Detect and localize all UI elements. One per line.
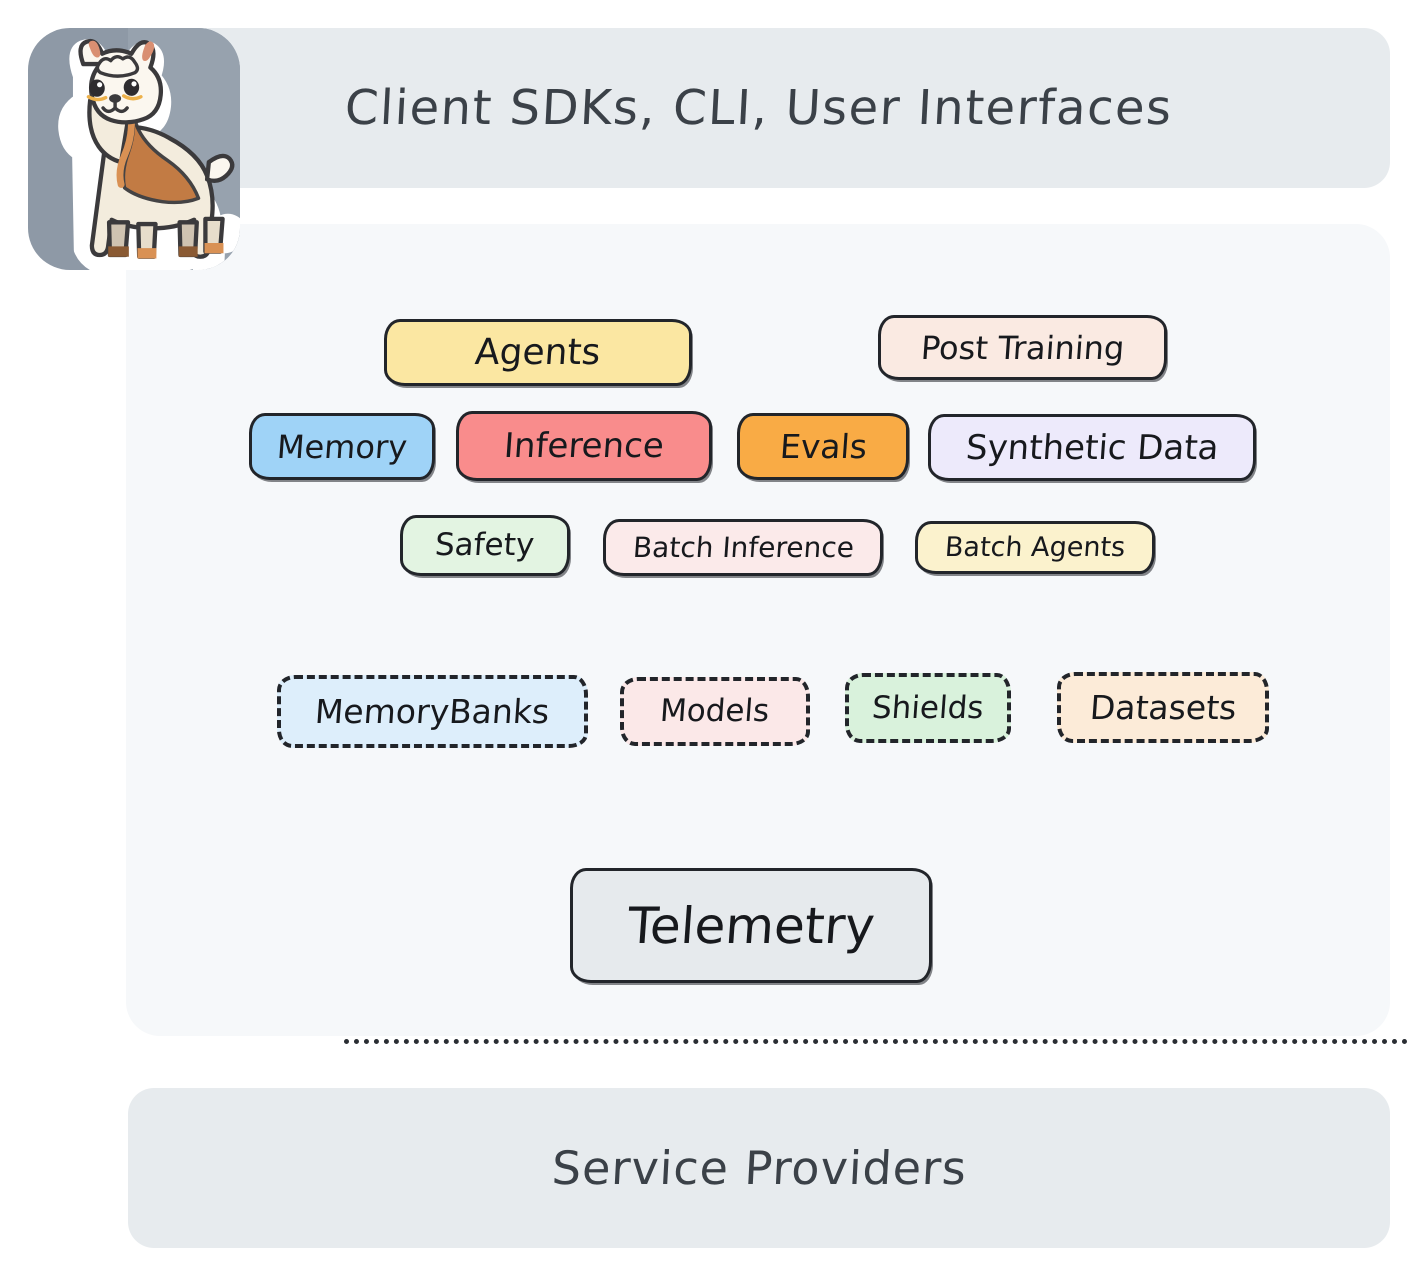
llama-stack-api-panel: AgentsPost TrainingMemoryInferenceEvalsS… bbox=[126, 224, 1390, 1036]
api-box-synthetic-data[interactable]: Synthetic Data bbox=[928, 414, 1256, 481]
service-providers-label: Service Providers bbox=[550, 1141, 968, 1195]
service-providers-banner: Service Providers bbox=[128, 1088, 1390, 1248]
resource-box-label: Datasets bbox=[1089, 691, 1238, 724]
api-box-label: Inference bbox=[503, 429, 665, 463]
api-box-label: Batch Agents bbox=[944, 534, 1126, 561]
dotted-divider bbox=[344, 1039, 1410, 1044]
api-box-batch-inference[interactable]: Batch Inference bbox=[603, 519, 883, 576]
client-layer-label: Client SDKs, CLI, User Interfaces bbox=[344, 80, 1175, 136]
resource-box-shields[interactable]: Shields bbox=[845, 673, 1011, 743]
resource-box-datasets[interactable]: Datasets bbox=[1057, 672, 1269, 743]
api-box-inference[interactable]: Inference bbox=[456, 411, 712, 481]
diagram-canvas: Client SDKs, CLI, User Interfaces bbox=[0, 0, 1410, 1268]
resource-box-models[interactable]: Models bbox=[620, 677, 810, 746]
api-box-label: Batch Inference bbox=[632, 534, 855, 562]
api-box-safety[interactable]: Safety bbox=[400, 515, 570, 576]
api-box-batch-agents[interactable]: Batch Agents bbox=[915, 521, 1155, 574]
resource-box-label: Shields bbox=[871, 693, 985, 724]
api-box-post-training[interactable]: Post Training bbox=[878, 315, 1167, 380]
api-box-evals[interactable]: Evals bbox=[737, 413, 909, 480]
api-box-label: Agents bbox=[474, 335, 602, 371]
api-box-telemetry[interactable]: Telemetry bbox=[570, 868, 932, 983]
api-box-label: Evals bbox=[778, 430, 867, 463]
llama-logo bbox=[28, 28, 240, 270]
api-box-label: Memory bbox=[276, 431, 408, 463]
api-box-label: Telemetry bbox=[626, 901, 876, 951]
api-box-agents[interactable]: Agents bbox=[384, 319, 692, 386]
api-box-label: Safety bbox=[434, 530, 535, 561]
api-box-memory[interactable]: Memory bbox=[249, 413, 435, 480]
resource-box-label: Models bbox=[659, 696, 770, 727]
resource-box-label: MemoryBanks bbox=[314, 695, 551, 728]
api-box-label: Post Training bbox=[920, 332, 1126, 364]
resource-box-memorybanks[interactable]: MemoryBanks bbox=[277, 675, 588, 748]
client-layer-banner: Client SDKs, CLI, User Interfaces bbox=[128, 28, 1390, 188]
api-box-label: Synthetic Data bbox=[965, 431, 1220, 465]
llama-icon bbox=[28, 28, 240, 270]
